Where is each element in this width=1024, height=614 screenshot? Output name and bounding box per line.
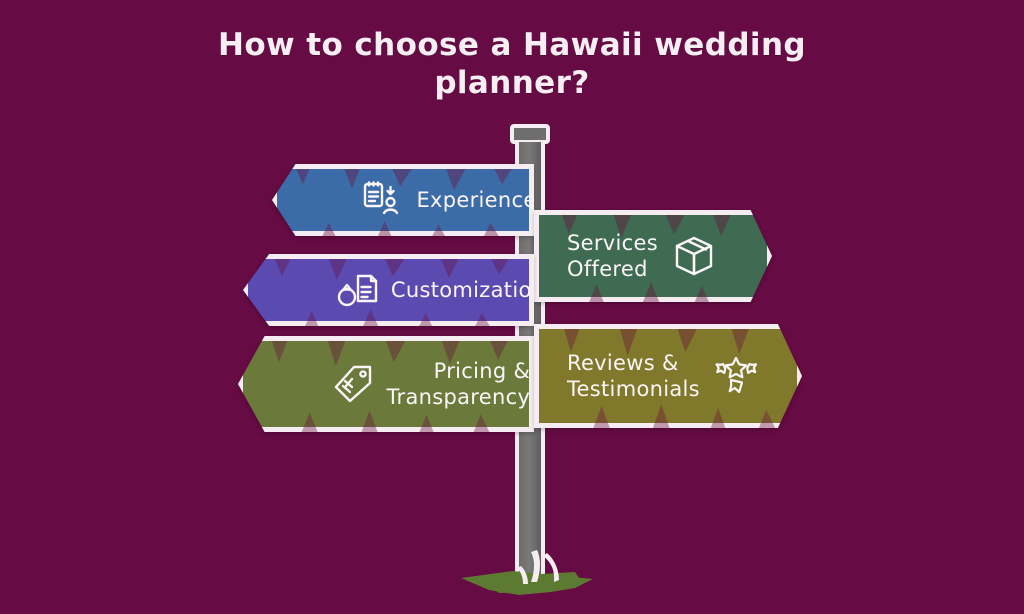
page-title: How to choose a Hawaii wedding planner? xyxy=(0,26,1024,102)
price-tag-icon xyxy=(327,358,379,410)
clipboard-person-icon xyxy=(356,174,408,226)
stars-review-icon xyxy=(710,350,762,402)
box-cube-icon xyxy=(668,230,720,282)
sign-experience[interactable]: Experience xyxy=(272,164,534,236)
sign-experience-plate: Experience xyxy=(272,164,534,236)
sign-pricing-transparency[interactable]: Pricing & Transparency xyxy=(238,336,534,432)
ring-document-icon xyxy=(331,264,383,316)
sign-services-offered-plate: Services Offered xyxy=(534,210,772,302)
page-title-line-2: planner? xyxy=(150,64,874,102)
page-title-line-1: How to choose a Hawaii wedding xyxy=(150,26,874,64)
sign-services-offered[interactable]: Services Offered xyxy=(534,210,772,302)
sign-pricing-transparency-label: Pricing & Transparency xyxy=(387,358,537,410)
sign-customization-plate: Customization xyxy=(243,254,534,326)
sign-reviews-testimonials[interactable]: Reviews & Testimonials xyxy=(534,324,802,428)
sign-customization[interactable]: Customization xyxy=(243,254,534,326)
sign-reviews-testimonials-label: Reviews & Testimonials xyxy=(563,350,700,402)
sign-experience-body: Experience xyxy=(308,169,529,231)
sign-pricing-transparency-plate: Pricing & Transparency xyxy=(238,336,534,432)
sign-customization-body: Customization xyxy=(283,259,529,321)
infographic-canvas: How to choose a Hawaii wedding planner? xyxy=(0,0,1024,614)
sign-services-offered-body: Services Offered xyxy=(539,215,738,297)
sign-reviews-testimonials-body: Reviews & Testimonials xyxy=(539,329,765,423)
sign-services-offered-label: Services Offered xyxy=(563,230,658,282)
sign-reviews-testimonials-plate: Reviews & Testimonials xyxy=(534,324,802,428)
signpost-cap xyxy=(510,124,550,144)
grass-base-icon xyxy=(455,538,600,600)
sign-customization-label: Customization xyxy=(391,277,551,303)
sign-experience-label: Experience xyxy=(416,187,542,213)
sign-pricing-transparency-body: Pricing & Transparency xyxy=(279,341,529,427)
